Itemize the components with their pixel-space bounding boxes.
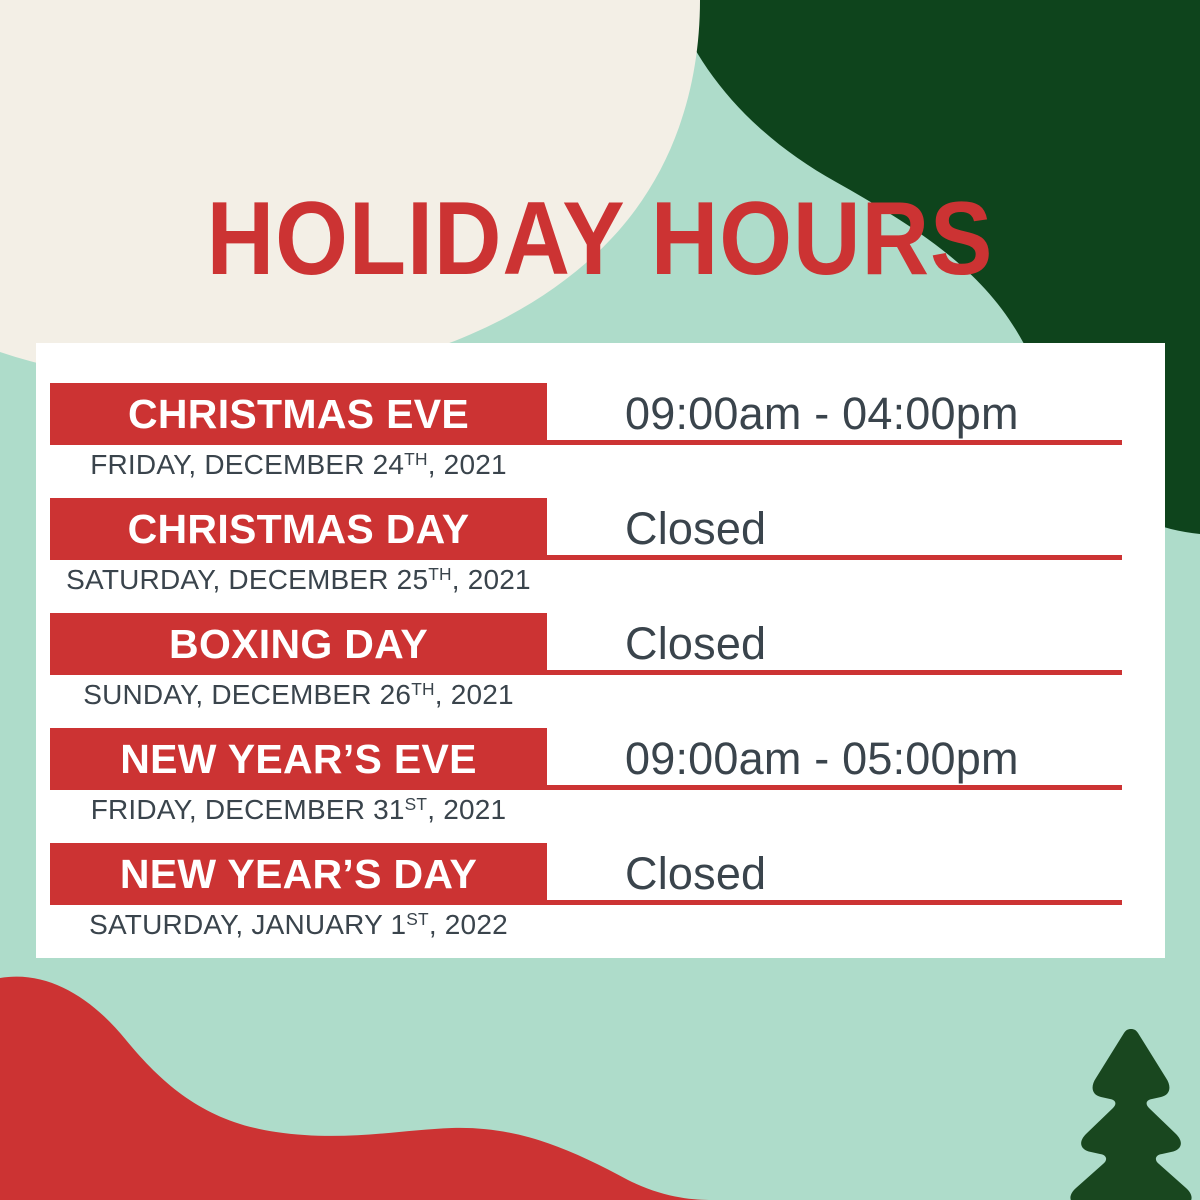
date-prefix: SATURDAY, JANUARY 1: [89, 909, 406, 940]
date-ordinal: ST: [406, 909, 429, 929]
holiday-hours-value: Closed: [625, 613, 1165, 675]
holiday-hours-value: 09:00am - 04:00pm: [625, 383, 1165, 445]
schedule-row: NEW YEAR’S DAY Closed SATURDAY, JANUARY …: [36, 803, 1165, 918]
schedule-row: NEW YEAR’S EVE 09:00am - 05:00pm FRIDAY,…: [36, 688, 1165, 803]
date-suffix: , 2022: [429, 909, 508, 940]
holiday-name-chip: NEW YEAR’S DAY: [50, 843, 547, 905]
page-title: HOLIDAY HOURS: [60, 183, 1140, 295]
holiday-hours-value: Closed: [625, 498, 1165, 560]
schedule-row: CHRISTMAS DAY Closed SATURDAY, DECEMBER …: [36, 458, 1165, 573]
holiday-hours-value: Closed: [625, 843, 1165, 905]
holiday-hours-poster: HOLIDAY HOURS CHRISTMAS EVE 09:00am - 04…: [0, 0, 1200, 1200]
holiday-name-chip: CHRISTMAS EVE: [50, 383, 547, 445]
schedule-row: BOXING DAY Closed SUNDAY, DECEMBER 26TH,…: [36, 573, 1165, 688]
holiday-name-chip: NEW YEAR’S EVE: [50, 728, 547, 790]
holiday-name-chip: CHRISTMAS DAY: [50, 498, 547, 560]
holiday-date: SATURDAY, JANUARY 1ST, 2022: [50, 905, 547, 945]
schedule-row: CHRISTMAS EVE 09:00am - 04:00pm FRIDAY, …: [36, 343, 1165, 458]
holiday-hours-value: 09:00am - 05:00pm: [625, 728, 1165, 790]
holiday-name-chip: BOXING DAY: [50, 613, 547, 675]
schedule-card: CHRISTMAS EVE 09:00am - 04:00pm FRIDAY, …: [36, 343, 1165, 958]
